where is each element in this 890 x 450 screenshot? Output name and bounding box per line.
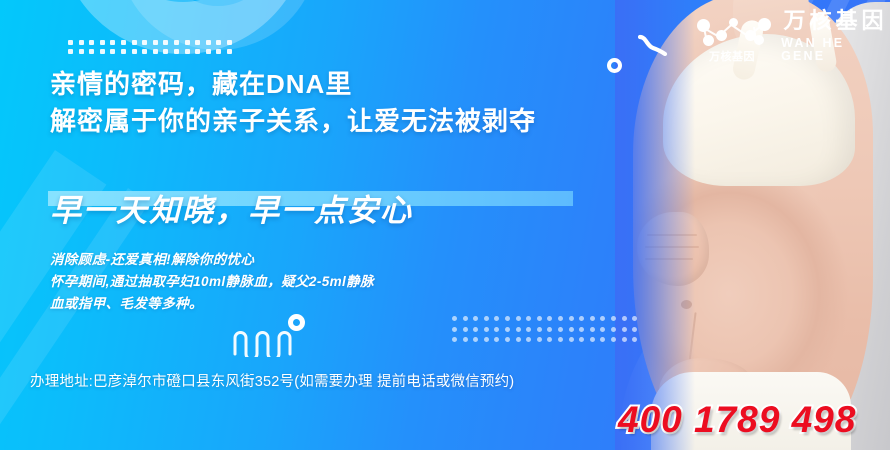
headline-line-2: 解密属于你的亲子关系，让爱无法被剥夺 bbox=[50, 103, 536, 140]
body-copy-line-3: 血或指甲、毛发等多种。 bbox=[50, 293, 374, 315]
phone-number[interactable]: 400 1789 498 bbox=[618, 399, 856, 441]
dna-molecule-icon: 万核基因 bbox=[692, 11, 769, 61]
logo-text-block: 万核基因 WAN HE GENE bbox=[781, 10, 890, 62]
logo-mark-label: 万核基因 bbox=[692, 48, 772, 64]
wave-squiggle-icon bbox=[232, 327, 294, 357]
logo-name-en: WAN HE GENE bbox=[781, 37, 890, 62]
promo-banner: 万核基因 万核基因 WAN HE GENE 亲情的密码，藏在DNA里 解密属于你… bbox=[0, 0, 890, 450]
address-text: 办理地址:巴彦淖尔市磴口县东风街352号(如需要办理 提前电话或微信预约) bbox=[30, 370, 514, 391]
body-copy-line-2: 怀孕期间,通过抽取孕妇10ml静脉血，疑父2-5ml静脉 bbox=[50, 271, 374, 293]
photo-edge-fade bbox=[615, 0, 695, 450]
headline-block: 亲情的密码，藏在DNA里 解密属于你的亲子关系，让爱无法被剥夺 bbox=[50, 66, 536, 140]
body-copy-line-1: 消除顾虑-还爱真相!解除你的忧心 bbox=[50, 249, 374, 271]
pregnant-woman-photo bbox=[615, 0, 890, 450]
subheadline: 早一天知晓，早一点安心 bbox=[50, 185, 413, 230]
brand-logo[interactable]: 万核基因 万核基因 WAN HE GENE bbox=[692, 10, 890, 62]
decor-dot-grid-top bbox=[68, 40, 238, 58]
body-copy-block: 消除顾虑-还爱真相!解除你的忧心 怀孕期间,通过抽取孕妇10ml静脉血，疑父2-… bbox=[50, 249, 374, 315]
logo-name-cn: 万核基因 bbox=[784, 10, 888, 32]
circle-outline-icon bbox=[288, 314, 305, 331]
headline-line-1: 亲情的密码，藏在DNA里 bbox=[50, 66, 536, 103]
decor-dot-grid-middle bbox=[452, 316, 643, 348]
